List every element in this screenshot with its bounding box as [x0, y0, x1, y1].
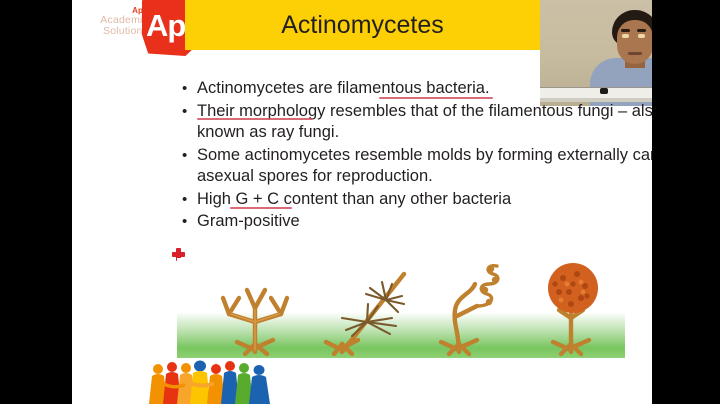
people-graphic [148, 360, 278, 404]
bullet-text: Gram-positive [197, 211, 652, 233]
page-title: Actinomycetes [185, 0, 540, 50]
annotation-underline [197, 118, 313, 120]
webcam-presenter-face [617, 20, 652, 64]
bullet-text: Some actinomycetes resemble molds by for… [197, 145, 652, 188]
bullet-marker: • [182, 101, 197, 144]
list-item: • Actinomycetes are filamentous bacteria… [182, 78, 652, 100]
bullet-marker: • [182, 145, 197, 188]
actinomycete-growth-stages-diagram [177, 258, 625, 358]
bullet-marker: • [182, 211, 197, 233]
letterbox-bar-right [652, 0, 720, 404]
list-item: • Some actinomycetes resemble molds by f… [182, 145, 652, 188]
diagram-stage-spore-head [525, 258, 621, 356]
diagram-stage-aerial-hyphae [312, 260, 422, 356]
letterbox-bar-left [0, 0, 72, 404]
list-item: • High G + C content than any other bact… [182, 189, 652, 211]
logo-subtitle-line2: Solutions [72, 26, 148, 37]
webcam-presenter-mouth [628, 52, 642, 55]
webcam-presenter-brow-right [637, 29, 646, 32]
bullet-marker: • [182, 78, 197, 100]
bullet-text: Their morphology resembles that of the f… [197, 101, 652, 144]
webcam-presenter-eye-left [622, 34, 629, 38]
apt-academic-solutions-logo: Apt Academic Solutions Apt [72, 0, 190, 56]
diagram-stage-spiral-spore-chain [419, 258, 519, 356]
list-item: • Gram-positive [182, 211, 652, 233]
list-item: • Their morphology resembles that of the… [182, 101, 652, 144]
logo-subtitle: Academic Solutions [72, 15, 148, 37]
presentation-slide: Apt Academic Solutions Apt Actinomycetes [72, 0, 652, 404]
diagram-stage-branching-filaments [207, 264, 303, 356]
annotation-underline [230, 207, 292, 209]
annotation-underline [379, 97, 493, 99]
webcam-presenter-brow-left [621, 29, 630, 32]
screen-recording-frame: Apt Academic Solutions Apt Actinomycetes [0, 0, 720, 404]
bullet-marker: • [182, 189, 197, 211]
slide-bullet-list: • Actinomycetes are filamentous bacteria… [182, 78, 652, 234]
webcam-presenter-eye-right [638, 34, 645, 38]
